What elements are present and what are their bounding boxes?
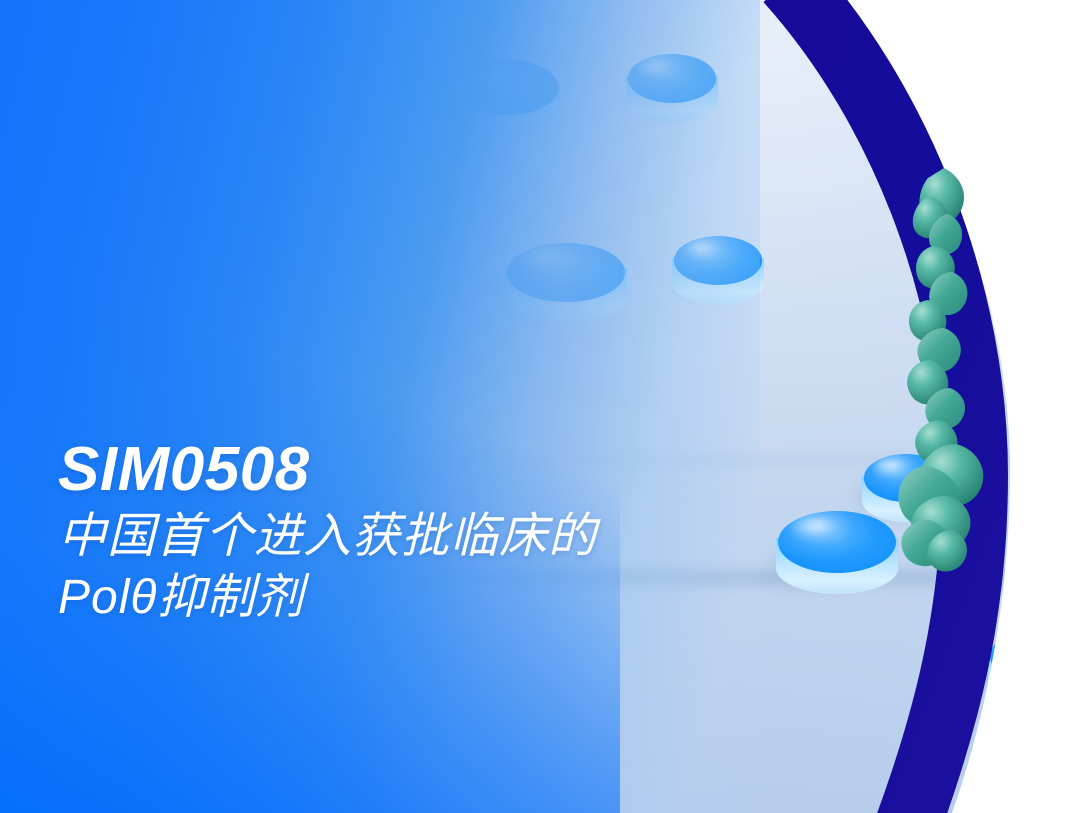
product-name-title: SIM0508 — [58, 438, 838, 501]
tablet-gloss — [873, 458, 913, 477]
subtitle-line-1: 中国首个进入获批临床的 — [58, 507, 838, 567]
subtitle-line-2: Polθ抑制剂 — [58, 568, 838, 628]
tablet-gloss — [1000, 634, 1044, 655]
poster-canvas: SIM0508 中国首个进入获批临床的 Polθ抑制剂 — [0, 0, 1066, 813]
headline-block: SIM0508 中国首个进入获批临床的 Polθ抑制剂 — [58, 438, 838, 628]
tablet-7 — [988, 628, 1066, 708]
